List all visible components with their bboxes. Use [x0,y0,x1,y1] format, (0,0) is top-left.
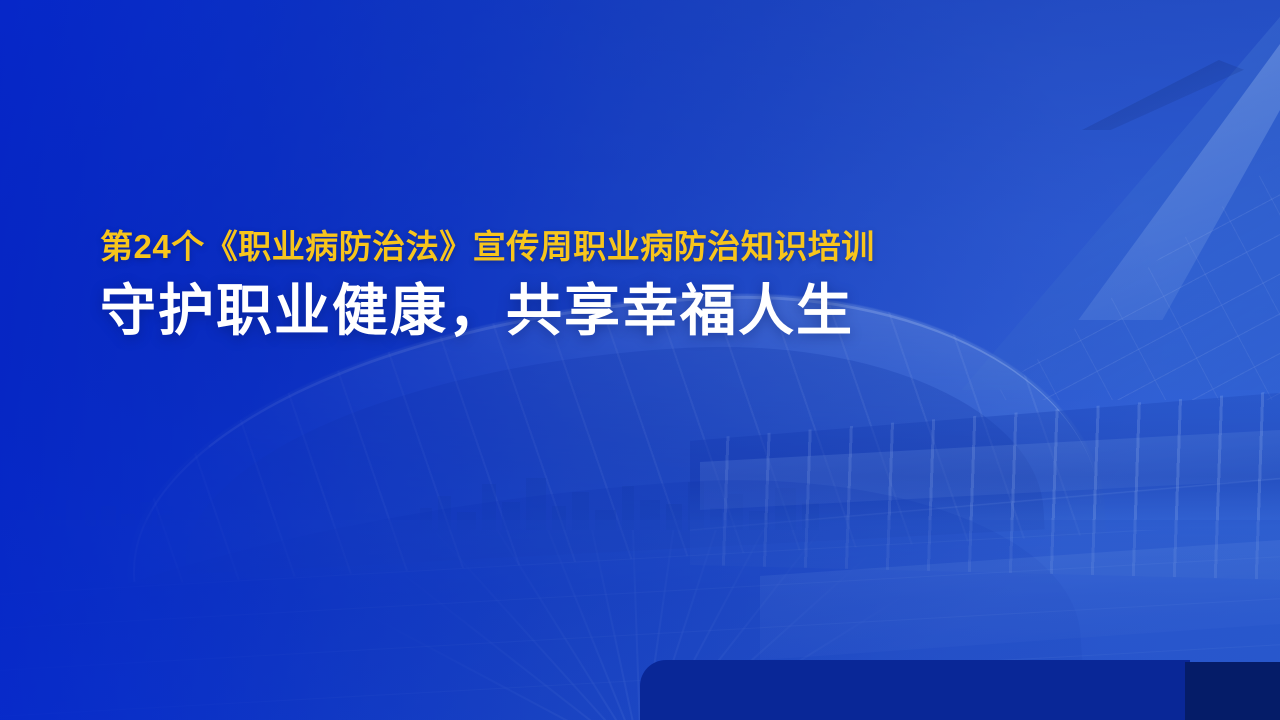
title-block: 第24个《职业病防治法》宣传周职业病防治知识培训 守护职业健康，共享幸福人生 [100,228,1160,344]
background-image [0,0,1280,720]
slide-subtitle: 第24个《职业病防治法》宣传周职业病防治知识培训 [100,228,1160,267]
presentation-slide: 第24个《职业病防治法》宣传周职业病防治知识培训 守护职业健康，共享幸福人生 [0,0,1280,720]
slide-title: 守护职业健康，共享幸福人生 [100,279,1160,344]
bottom-bar-primary [640,660,1190,720]
background-vignette [0,0,1280,720]
bottom-bar-accent [1185,662,1280,720]
